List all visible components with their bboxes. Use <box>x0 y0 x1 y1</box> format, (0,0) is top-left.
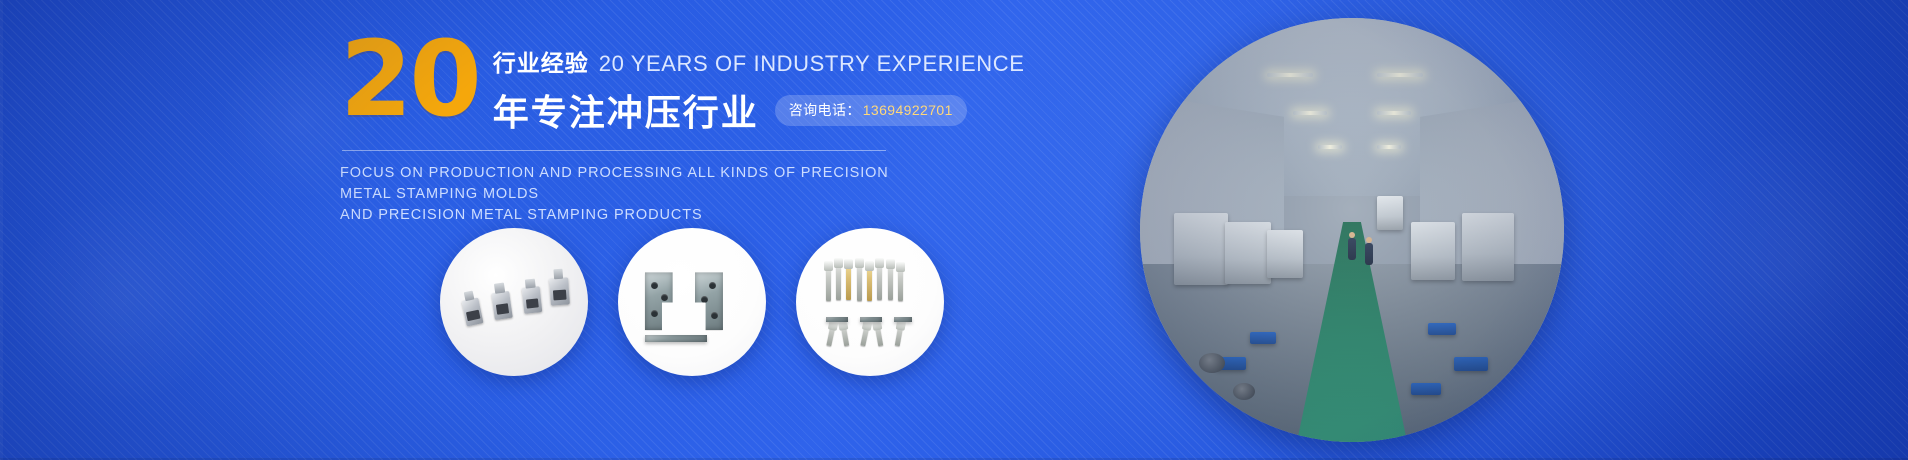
factory-photo-circle[interactable] <box>1140 18 1564 442</box>
headline-block: 20 行业经验 20 YEARS OF INDUSTRY EXPERIENCE … <box>340 36 900 226</box>
subtitle-line-2: AND PRECISION METAL STAMPING PRODUCTS <box>340 205 900 226</box>
subtitle-line-1: FOCUS ON PRODUCTION AND PROCESSING ALL K… <box>340 163 900 205</box>
headline-cn-small: 行业经验 <box>493 44 589 78</box>
headline-divider <box>342 150 886 151</box>
headline: 20 行业经验 20 YEARS OF INDUSTRY EXPERIENCE … <box>340 36 900 136</box>
consult-phone-label: 咨询电话： <box>789 100 861 120</box>
subtitle: FOCUS ON PRODUCTION AND PROCESSING ALL K… <box>340 163 900 226</box>
product-thumbnails <box>440 228 944 376</box>
headline-line-2: 年专注冲压行业 咨询电话： 13694922701 <box>493 84 1025 136</box>
consult-phone-number: 13694922701 <box>863 102 953 118</box>
factory-photo-shading <box>1140 18 1564 442</box>
product-circle-usb-connectors[interactable] <box>440 228 588 376</box>
headline-line-1: 行业经验 20 YEARS OF INDUSTRY EXPERIENCE <box>493 44 1025 78</box>
headline-cn-big: 年专注冲压行业 <box>493 84 759 136</box>
product-circle-stamping-mold[interactable] <box>618 228 766 376</box>
headline-en-small: 20 YEARS OF INDUSTRY EXPERIENCE <box>599 51 1025 77</box>
headline-text: 行业经验 20 YEARS OF INDUSTRY EXPERIENCE 年专注… <box>493 36 1025 136</box>
product-circle-terminal-pins[interactable] <box>796 228 944 376</box>
consult-phone-badge[interactable]: 咨询电话： 13694922701 <box>775 95 967 126</box>
years-number: 20 <box>340 32 479 128</box>
promo-banner: 20 行业经验 20 YEARS OF INDUSTRY EXPERIENCE … <box>0 0 1908 460</box>
